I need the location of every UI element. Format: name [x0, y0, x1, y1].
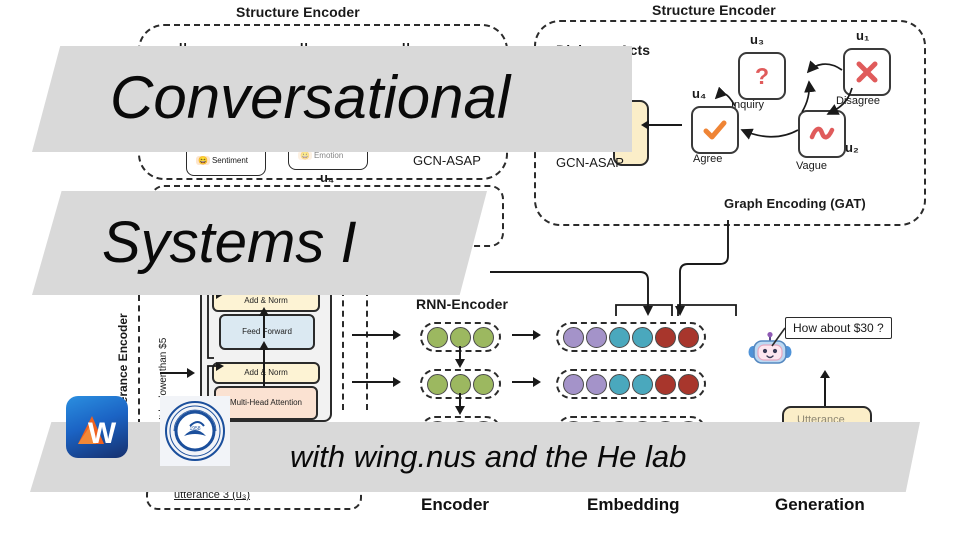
circle-purple: [586, 327, 607, 348]
graph-u4-caption: Agree: [693, 153, 722, 165]
rnn-encoder-label: RNN-Encoder: [416, 296, 508, 312]
embedding-circle-row: [556, 322, 706, 352]
utterance-encoder-divider: [138, 295, 140, 425]
title-line2-text: Systems I: [102, 209, 357, 276]
title-line1-text: Conversational: [110, 63, 510, 132]
circle-red: [678, 327, 699, 348]
structure-encoder-right-title: Structure Encoder: [652, 2, 776, 18]
rnn-out-arrow-line-2: [512, 381, 534, 383]
cross-x-icon: [854, 59, 880, 85]
graph-u4-label: u₄: [692, 86, 706, 101]
utterance-to-transformer-arrow-line: [160, 372, 188, 374]
gcn-inbound-arrow-head: [641, 120, 649, 130]
graph-u2-caption: Vague: [796, 160, 827, 172]
rnn-in-arrow-head-2: [393, 377, 401, 387]
rnn-out-arrow-line-1: [512, 334, 534, 336]
graph-u2-label: u₂: [845, 140, 859, 155]
emotion-chip-label: Emotion: [314, 151, 343, 160]
gcn-inbound-arrow-line: [648, 124, 682, 126]
circle-purple: [563, 327, 584, 348]
section-label-encoder: Encoder: [421, 495, 489, 515]
generation-up-arrow-line: [824, 378, 826, 406]
rnn-in-arrow-line-2: [352, 381, 394, 383]
graph-node-u1: [843, 48, 891, 96]
sentiment-chip: 😄 Sentiment: [192, 155, 252, 166]
circle-red: [655, 327, 676, 348]
left-u4-label: u₄: [320, 170, 334, 185]
graph-u1-label: u₁: [856, 28, 869, 43]
circle-green: [473, 374, 494, 395]
graph-encoding-caption: Graph Encoding (GAT): [724, 196, 866, 211]
circle-purple: [586, 374, 607, 395]
seal-year: 1958: [189, 426, 200, 432]
circle-green: [450, 374, 471, 395]
utterance-to-transformer-arrow-head: [187, 368, 195, 378]
wps-writer-logo: W: [66, 396, 128, 458]
rnn-in-arrow-head-1: [393, 330, 401, 340]
tilde-wave-icon: [809, 126, 835, 142]
circle-green: [427, 327, 448, 348]
circle-green: [427, 374, 448, 395]
encoder-guide-2: [366, 290, 368, 410]
graph-node-u3: ?: [738, 52, 786, 100]
circle-teal: [609, 374, 630, 395]
smiley-icon: 😄: [196, 156, 210, 165]
circle-purple: [563, 374, 584, 395]
title-banner-line2: Systems I: [32, 191, 487, 295]
rnn-out-arrow-head-2: [533, 377, 541, 387]
embedding-circle-row: [556, 369, 706, 399]
circle-green: [450, 327, 471, 348]
rnn-circle-row: [420, 369, 501, 399]
generation-speech-bubble: How about $30 ?: [785, 317, 892, 339]
sentiment-chip-label: Sentiment: [212, 156, 248, 165]
graph-node-u4: [691, 106, 739, 154]
encoder-guide-1: [342, 290, 344, 410]
structure-to-embedding-connectors: [480, 220, 740, 320]
smiley-icon: 😀: [298, 151, 312, 160]
graph-u1-caption: Disagree: [836, 95, 880, 107]
right-gcn-asap-label: GCN-ASAP: [556, 155, 624, 170]
generation-up-arrow-head: [820, 370, 830, 378]
university-seal-logo: 1958: [160, 396, 230, 466]
transformer-feed-forward: Feed Forward: [219, 314, 315, 350]
embedding-brackets: [614, 302, 744, 318]
section-label-embedding: Embedding: [587, 495, 680, 515]
circle-teal: [632, 327, 653, 348]
title-banner-line1: Conversational: [32, 46, 632, 152]
circle-green: [473, 327, 494, 348]
question-mark-icon: ?: [751, 63, 773, 89]
circle-teal: [632, 374, 653, 395]
circle-teal: [609, 327, 630, 348]
structure-encoder-left-title: Structure Encoder: [236, 4, 360, 20]
transformer-add-norm-bottom: Add & Norm: [212, 362, 320, 384]
graph-node-u2: [798, 110, 846, 158]
slide-canvas: Structure Encoder u₁ u₂ u₃ 😄 Sentiment 😀…: [0, 0, 960, 540]
rnn-in-arrow-line-1: [352, 334, 394, 336]
circle-red: [678, 374, 699, 395]
subtitle-text: with wing.nus and the He lab: [290, 439, 686, 475]
graph-u3-label: u₃: [750, 32, 764, 47]
svg-text:?: ?: [755, 63, 769, 89]
wps-logo-letter: W: [88, 417, 117, 450]
check-mark-icon: [702, 118, 728, 142]
rnn-circle-row: [420, 322, 501, 352]
section-label-generation: Generation: [775, 495, 865, 515]
left-gcn-asap-label: GCN-ASAP: [413, 153, 481, 168]
circle-red: [655, 374, 676, 395]
rnn-out-arrow-head-1: [533, 330, 541, 340]
